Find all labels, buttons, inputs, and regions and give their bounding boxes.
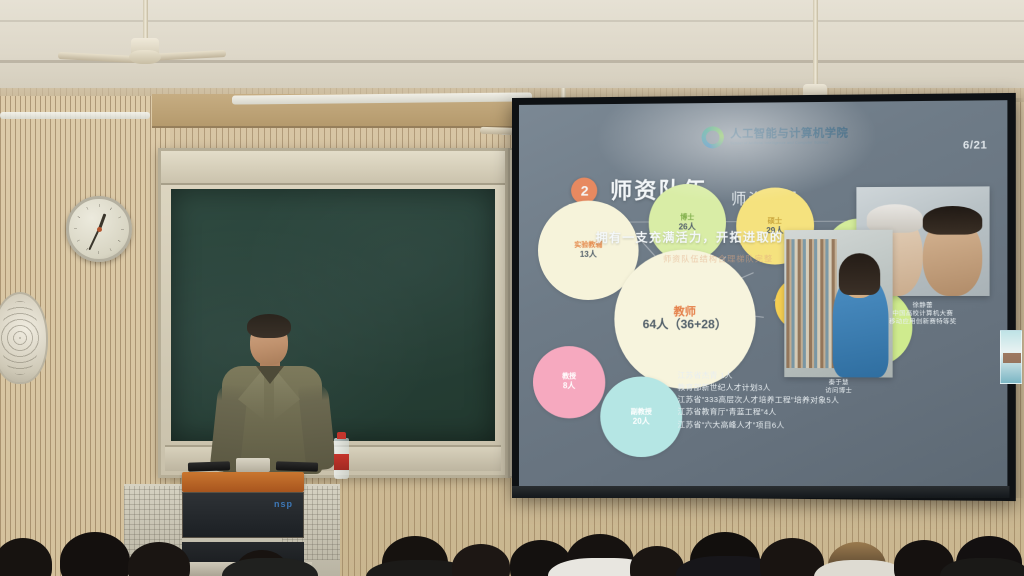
bubble-label: 博士 bbox=[680, 214, 694, 222]
blackboard bbox=[158, 148, 508, 478]
fan-grille bbox=[1, 301, 39, 375]
bottle-label bbox=[334, 454, 349, 470]
photo-hair-right bbox=[923, 206, 982, 235]
photo-hair-left bbox=[867, 204, 923, 233]
ceiling-fan-right bbox=[770, 0, 860, 70]
presentation-slide: 人工智能与计算机学院 School of Artificial Intellig… bbox=[519, 100, 1007, 492]
audience-head bbox=[60, 532, 130, 576]
slide-tagline-sub: 师资队伍结构合理梯队完整 bbox=[663, 253, 773, 264]
bubble-label: 副教授 bbox=[631, 408, 652, 416]
list-item: 江苏省“六大高峰人才”项目6人 bbox=[678, 419, 840, 432]
list-item: 江苏省教育厅“青蓝工程”4人 bbox=[678, 406, 840, 419]
audience-shoulders bbox=[222, 558, 318, 576]
blackboard-top-rail bbox=[161, 151, 505, 185]
wall-poster bbox=[1000, 330, 1022, 384]
bubble-count: 13人 bbox=[580, 249, 597, 258]
presenter-hair bbox=[247, 314, 291, 338]
photo-bookshelf bbox=[787, 239, 837, 369]
audience-head bbox=[452, 544, 510, 576]
water-bottle bbox=[334, 432, 349, 479]
portrait-photo-caption: 秦于慧 访问博士 bbox=[790, 379, 888, 396]
bubble-count: 8人 bbox=[563, 382, 576, 391]
presenter bbox=[212, 312, 332, 487]
microphone-base bbox=[236, 458, 270, 472]
bubble-count: 20人 bbox=[633, 416, 650, 425]
bubble-count: 64人（36+28） bbox=[643, 318, 727, 332]
bubble-associate-professors: 副教授 20人 bbox=[600, 377, 682, 458]
award-photo-caption: 徐静蕾 中国高校计算机大赛 移动应用创新赛特等奖 bbox=[858, 302, 987, 328]
audience-head bbox=[0, 538, 52, 576]
bubble-chart: 实验教辅 13人 博士 26人 硕士 29人 博导 24人 教师 6 bbox=[519, 100, 1007, 492]
clock-center-pin bbox=[97, 227, 102, 232]
fan-hub bbox=[129, 50, 161, 64]
microphone-right bbox=[276, 461, 318, 471]
fluorescent-light-left bbox=[0, 112, 150, 119]
audience bbox=[0, 480, 1024, 576]
bubble-teachers-total: 教师 64人（36+28） bbox=[615, 250, 756, 389]
fan-rod bbox=[813, 0, 818, 88]
wall-clock bbox=[66, 196, 132, 262]
lecture-hall-scene: 人工智能与计算机学院 School of Artificial Intellig… bbox=[0, 0, 1024, 576]
audience-head bbox=[128, 542, 190, 576]
audience-shoulders bbox=[814, 560, 906, 576]
microphone-left bbox=[188, 461, 230, 471]
bottle-cap bbox=[337, 432, 346, 439]
bubble-professors: 教授 8人 bbox=[533, 346, 605, 419]
bubble-label: 硕士 bbox=[768, 218, 782, 226]
projection-screen: 人工智能与计算机学院 School of Artificial Intellig… bbox=[512, 93, 1016, 501]
poster-band bbox=[1003, 353, 1021, 363]
photo-hair bbox=[839, 253, 880, 294]
ceiling-fan-left bbox=[100, 0, 190, 70]
audience-head bbox=[760, 538, 824, 576]
fan-rod bbox=[143, 0, 148, 42]
